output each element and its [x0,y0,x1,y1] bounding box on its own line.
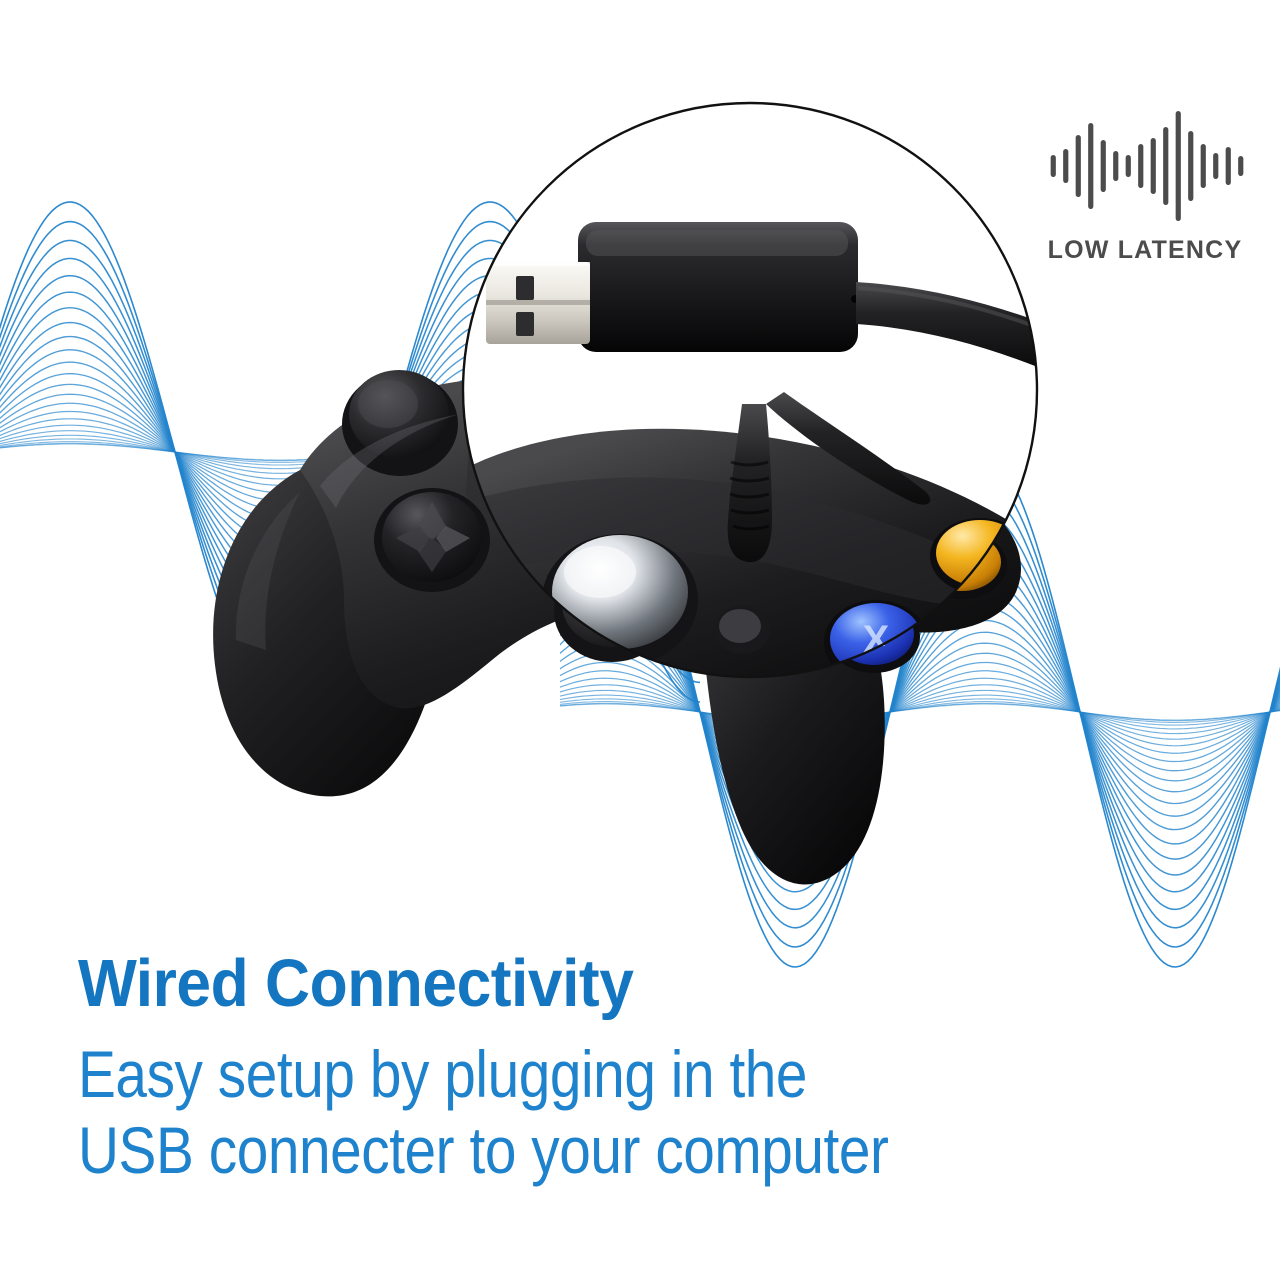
subheadline-line-2: USB connecter to your computer [78,1112,1050,1188]
audio-waveform-icon [1045,96,1245,224]
subheadline-line-1: Easy setup by plugging in the [78,1036,1050,1112]
marketing-banner: X [0,0,1280,1280]
caption-block: Wired Connectivity Easy setup by pluggin… [78,950,1208,1188]
low-latency-label: LOW LATENCY [1034,236,1256,265]
headline: Wired Connectivity [78,950,1129,1018]
d-pad [374,488,490,592]
low-latency-badge: LOW LATENCY [1034,96,1256,265]
